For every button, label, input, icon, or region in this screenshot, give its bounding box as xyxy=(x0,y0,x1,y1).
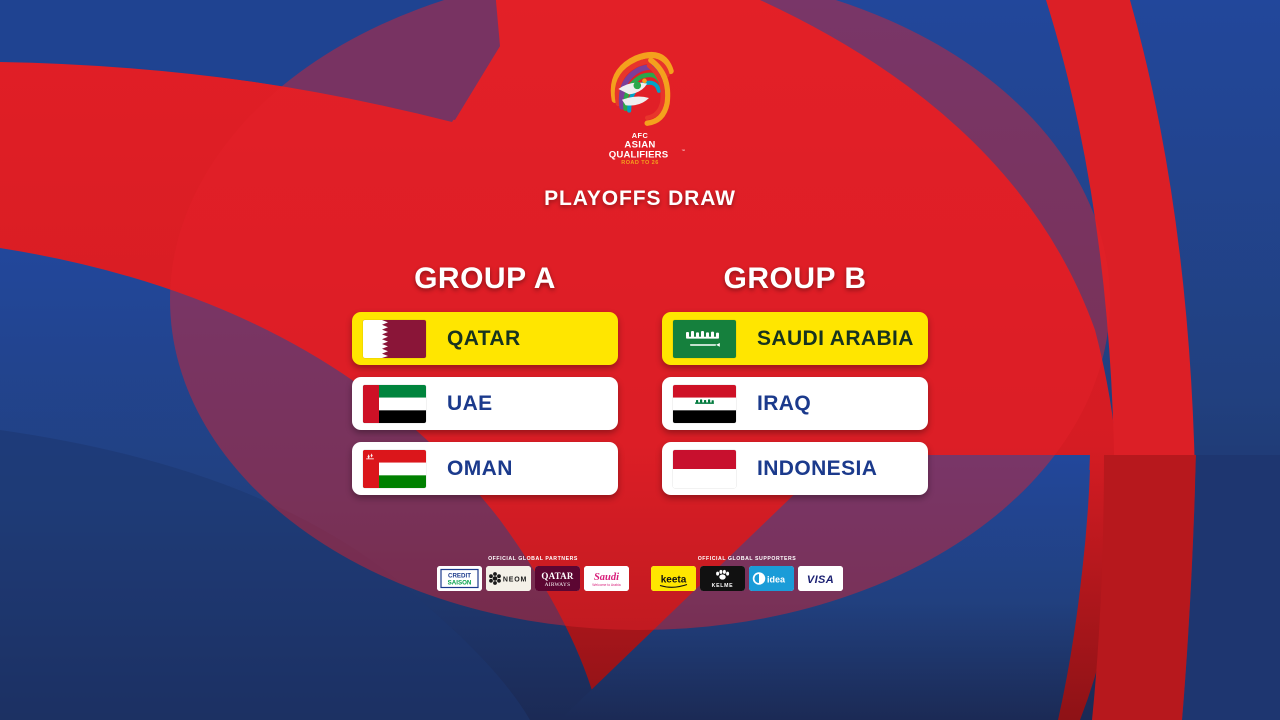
indonesia-flag-icon xyxy=(673,450,736,488)
team-card-indonesia[interactable]: INDONESIA xyxy=(662,442,928,495)
oman-flag-icon xyxy=(363,450,426,488)
team-name: INDONESIA xyxy=(757,457,877,481)
svg-text:CREDIT: CREDIT xyxy=(448,573,471,580)
svg-text:AFC: AFC xyxy=(632,131,649,140)
svg-text:Saudi: Saudi xyxy=(594,572,619,583)
kelme-logo-icon[interactable]: KELME xyxy=(700,566,745,591)
page-title: PLAYOFFS DRAW xyxy=(544,187,736,211)
uae-flag-icon xyxy=(363,385,426,423)
midea-logo-icon[interactable]: idea xyxy=(749,566,794,591)
qatar-airways-logo-icon[interactable]: QATAR AIRWAYS xyxy=(535,566,580,591)
saudi-arabia-flag-icon xyxy=(673,320,736,358)
sponsor-heading: OFFICIAL GLOBAL PARTNERS xyxy=(488,556,578,562)
keeta-logo-icon[interactable]: keeta xyxy=(651,566,696,591)
team-name: UAE xyxy=(447,392,493,416)
svg-text:keeta: keeta xyxy=(661,574,687,585)
team-card-qatar[interactable]: QATAR xyxy=(352,312,618,365)
team-name: IRAQ xyxy=(757,392,811,416)
saudi-tourism-logo-icon[interactable]: Saudi Welcome to Arabia xyxy=(584,566,629,591)
qatar-flag-icon xyxy=(363,320,426,358)
sponsor-bar: OFFICIAL GLOBAL PARTNERS CREDIT SAISON xyxy=(0,556,1280,591)
group-b-title: GROUP B xyxy=(662,262,928,296)
team-name: QATAR xyxy=(447,327,521,351)
header-block: AFC ASIAN QUALIFIERS ™ ROAD TO 26 PLAYOF… xyxy=(0,44,1280,211)
sponsor-row-supporters: keeta KELME xyxy=(651,566,843,591)
group-a: GROUP A QATAR xyxy=(352,262,618,507)
broadcast-graphic: AFC ASIAN QUALIFIERS ™ ROAD TO 26 PLAYOF… xyxy=(0,0,1280,720)
group-b: GROUP B xyxy=(662,262,928,507)
sponsor-heading: OFFICIAL GLOBAL SUPPORTERS xyxy=(698,556,797,562)
afc-asian-qualifiers-logo-icon xyxy=(595,44,685,134)
team-name: SAUDI ARABIA xyxy=(757,327,914,351)
svg-text:ROAD TO 26: ROAD TO 26 xyxy=(621,160,658,165)
team-card-oman[interactable]: OMAN xyxy=(352,442,618,495)
svg-text:™: ™ xyxy=(681,149,685,153)
afc-asian-qualifiers-wordmark-icon: AFC ASIAN QUALIFIERS ™ ROAD TO 26 xyxy=(592,130,688,165)
svg-text:VISA: VISA xyxy=(807,574,834,586)
svg-text:SAISON: SAISON xyxy=(448,580,472,587)
credit-saison-logo-icon[interactable]: CREDIT SAISON xyxy=(437,566,482,591)
svg-text:AIRWAYS: AIRWAYS xyxy=(545,582,571,588)
svg-text:QUALIFIERS: QUALIFIERS xyxy=(609,149,669,160)
iraq-flag-icon xyxy=(673,385,736,423)
sponsor-group-partners: OFFICIAL GLOBAL PARTNERS CREDIT SAISON xyxy=(437,556,629,591)
team-card-saudi-arabia[interactable]: SAUDI ARABIA xyxy=(662,312,928,365)
sponsor-group-supporters: OFFICIAL GLOBAL SUPPORTERS keeta xyxy=(651,556,843,591)
team-card-iraq[interactable]: IRAQ xyxy=(662,377,928,430)
svg-text:QATAR: QATAR xyxy=(541,571,573,581)
sponsor-row-partners: CREDIT SAISON xyxy=(437,566,629,591)
team-name: OMAN xyxy=(447,457,513,481)
svg-text:NEOM: NEOM xyxy=(503,576,527,583)
groups-container: GROUP A QATAR xyxy=(0,262,1280,507)
svg-text:idea: idea xyxy=(767,575,786,585)
svg-text:KELME: KELME xyxy=(712,583,734,589)
neom-logo-icon[interactable]: NEOM xyxy=(486,566,531,591)
svg-text:Welcome to Arabia: Welcome to Arabia xyxy=(592,583,621,587)
team-card-uae[interactable]: UAE xyxy=(352,377,618,430)
group-a-title: GROUP A xyxy=(352,262,618,296)
visa-logo-icon[interactable]: VISA xyxy=(798,566,843,591)
